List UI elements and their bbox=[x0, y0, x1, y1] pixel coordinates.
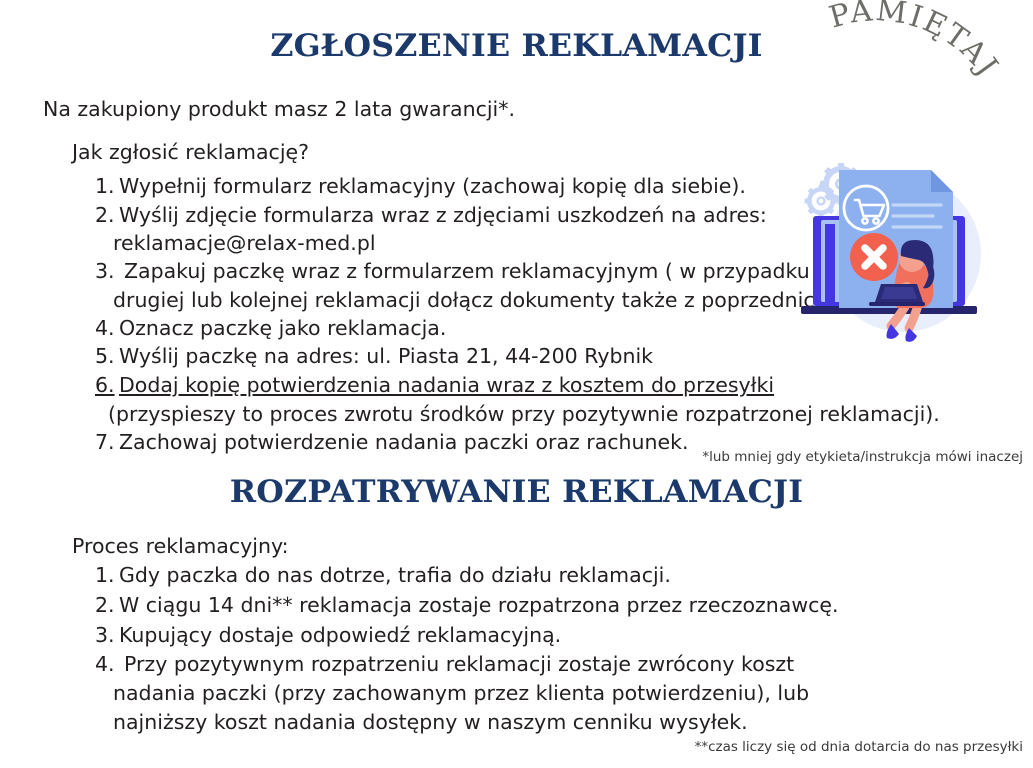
list-item-continuation: nadania paczki (przy zachowanym przez kl… bbox=[113, 683, 809, 704]
list-item-text: Wyślij zdjęcie formularza wraz z zdjęcia… bbox=[119, 205, 767, 226]
list-item: 7. Zachowaj potwierdzenie nadania paczki… bbox=[95, 432, 689, 453]
list-item-text: Zapakuj paczkę wraz z formularzem reklam… bbox=[124, 261, 810, 282]
section-1-heading: ZGŁOSZENIE REKLAMACJI bbox=[0, 28, 1033, 64]
list-item-number: 7. bbox=[95, 432, 119, 453]
list-item: 4. Przy pozytywnym rozpatrzeniu reklamac… bbox=[95, 654, 794, 675]
list-item-text: Dodaj kopię potwierdzenia nadania wraz z… bbox=[119, 375, 774, 396]
list-item-number: 3. bbox=[95, 625, 119, 646]
list-item-number: 6. bbox=[95, 375, 119, 396]
list-item-number: 2. bbox=[95, 205, 119, 226]
list-item-number: 4. bbox=[95, 318, 119, 339]
list-item-continuation: (przyspieszy to proces zwrotu środków pr… bbox=[108, 404, 940, 425]
list-item: 2. W ciągu 14 dni** reklamacja zostaje r… bbox=[95, 595, 839, 616]
footnote-single-asterisk: *lub mniej gdy etykieta/instrukcja mówi … bbox=[702, 451, 1023, 465]
list-item-continuation: drugiej lub kolejnej reklamacji dołącz d… bbox=[113, 290, 836, 311]
list-item-number: 5. bbox=[95, 346, 119, 367]
warranty-intro-text: Na zakupiony produkt masz 2 lata gwaranc… bbox=[43, 99, 515, 120]
how-to-report-lead: Jak zgłosić reklamację? bbox=[72, 142, 309, 163]
list-item: 3. Zapakuj paczkę wraz z formularzem rek… bbox=[95, 261, 810, 282]
list-item: 1. Wypełnij formularz reklamacyjny (zach… bbox=[95, 176, 746, 197]
complaint-laptop-illustration bbox=[781, 156, 1031, 346]
list-item-text: W ciągu 14 dni** reklamacja zostaje rozp… bbox=[119, 595, 839, 616]
list-item-continuation: najniższy koszt nadania dostępny w naszy… bbox=[113, 712, 748, 733]
footnote-double-asterisk: **czas liczy się od dnia dotarcia do nas… bbox=[695, 741, 1023, 755]
poster-page: PAMIĘTAJ ZGŁOSZENIE REKLAMACJI Na zakupi… bbox=[0, 0, 1033, 768]
section-2-heading: ROZPATRYWANIE REKLAMACJI bbox=[0, 474, 1033, 510]
list-item-text: Kupujący dostaje odpowiedź reklamacyjną. bbox=[119, 625, 561, 646]
list-item: 1. Gdy paczka do nas dotrze, trafia do d… bbox=[95, 565, 671, 586]
list-item: 3. Kupujący dostaje odpowiedź reklamacyj… bbox=[95, 625, 561, 646]
list-item-text: Gdy paczka do nas dotrze, trafia do dzia… bbox=[119, 565, 671, 586]
list-item-number: 2. bbox=[95, 595, 119, 616]
list-item-number: 1. bbox=[95, 176, 119, 197]
list-item-text: Wyślij paczkę na adres: ul. Piasta 21, 4… bbox=[119, 346, 653, 367]
process-lead: Proces reklamacyjny: bbox=[72, 536, 289, 557]
list-item-text: Oznacz paczkę jako reklamacja. bbox=[119, 318, 446, 339]
list-item-continuation-email: reklamacje@relax-med.pl bbox=[113, 233, 376, 254]
list-item-text: Przy pozytywnym rozpatrzeniu reklamacji … bbox=[124, 654, 794, 675]
list-item: 4. Oznacz paczkę jako reklamacja. bbox=[95, 318, 446, 339]
list-item: 6. Dodaj kopię potwierdzenia nadania wra… bbox=[95, 375, 774, 396]
list-item-text: Wypełnij formularz reklamacyjny (zachowa… bbox=[119, 176, 746, 197]
pamietaj-stamp: PAMIĘTAJ bbox=[826, 0, 1033, 154]
list-item-text: Zachowaj potwierdzenie nadania paczki or… bbox=[119, 432, 689, 453]
error-x-badge bbox=[850, 233, 898, 281]
list-item: 2. Wyślij zdjęcie formularza wraz z zdję… bbox=[95, 205, 767, 226]
list-item: 5. Wyślij paczkę na adres: ul. Piasta 21… bbox=[95, 346, 653, 367]
list-item-number: 1. bbox=[95, 565, 119, 586]
list-item-number: 4. bbox=[95, 654, 124, 675]
list-item-number: 3. bbox=[95, 261, 124, 282]
